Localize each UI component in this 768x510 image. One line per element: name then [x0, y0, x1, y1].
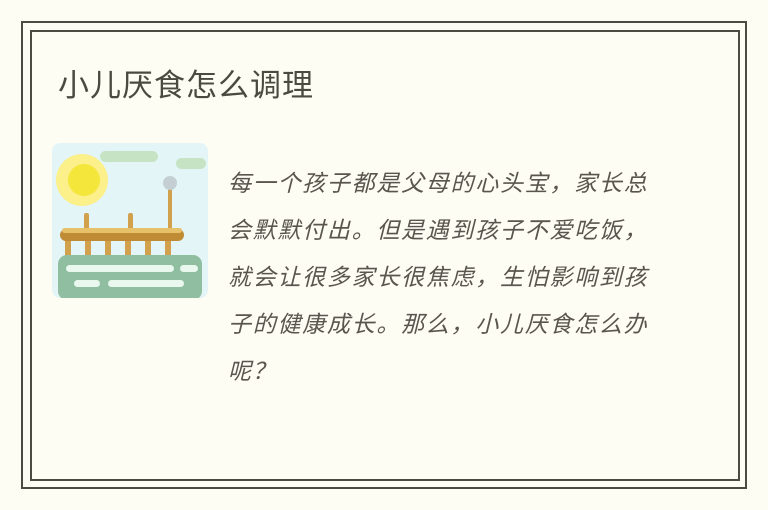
page-title: 小儿厌食怎么调理	[58, 66, 314, 106]
article-page: 小儿厌食怎么调理	[0, 0, 768, 510]
article-content: 每一个孩子都是父母的心头宝，家长总会默默付出。但是遇到孩子不爱吃饭，就会让很多家…	[52, 143, 692, 413]
pier-sunset-illustration	[52, 143, 208, 298]
article-body-text: 每一个孩子都是父母的心头宝，家长总会默默付出。但是遇到孩子不爱吃饭，就会让很多家…	[228, 161, 648, 396]
